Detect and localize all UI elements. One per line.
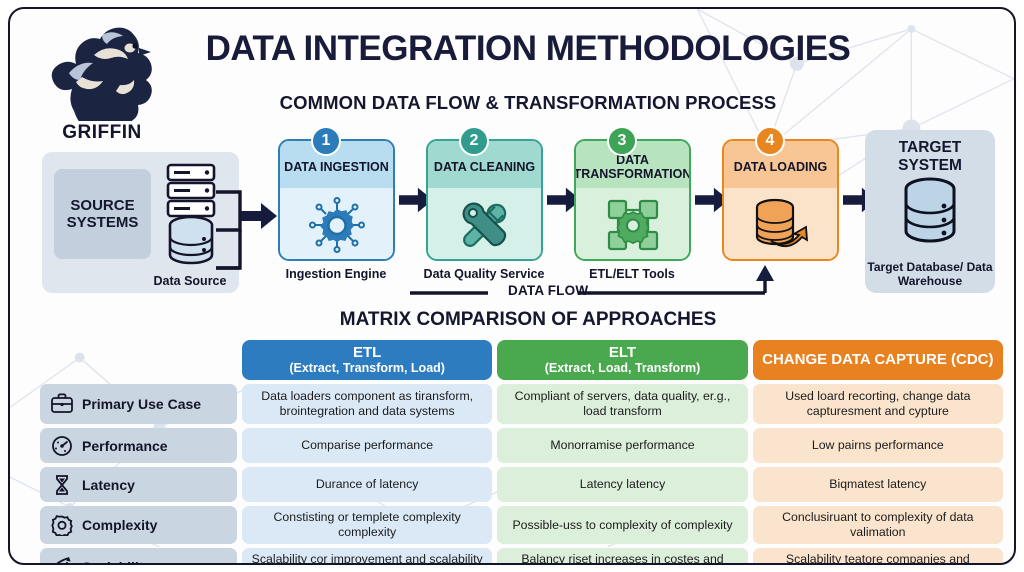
cell-elt-latency: Latency latency xyxy=(497,467,747,502)
column-header-elt-expansion: (Extract, Load, Transform) xyxy=(501,361,743,375)
cell-elt-scalability: Balancy riset increases in costes and av… xyxy=(497,548,747,565)
cell-etl-primary-use-case: Data loaders component as tiransform, br… xyxy=(242,384,492,424)
source-systems-title: SOURCE SYSTEMS xyxy=(54,169,151,259)
row-label-latency: Latency xyxy=(40,467,237,502)
column-header-etl-name: ETL xyxy=(246,344,488,361)
data-flow-return-path xyxy=(410,265,810,310)
process-step-4[interactable]: DATA LOADING xyxy=(722,139,839,261)
process-step-1-caption: Ingestion Engine xyxy=(261,267,411,282)
row-label-scalability: Scalability xyxy=(40,548,237,565)
brand-logo-block: GRIFFIN xyxy=(32,15,172,144)
matrix-section-title: MATRIX COMPARISON OF APPROACHES xyxy=(178,309,878,331)
process-step-3-badge: 3 xyxy=(607,126,637,156)
page-subtitle: COMMON DATA FLOW & TRANSFORMATION PROCES… xyxy=(178,92,878,114)
briefcase-icon xyxy=(50,393,74,415)
cell-elt-complexity: Possible-uss to complexity of complexity xyxy=(497,506,747,544)
cell-elt-primary-use-case: Compliant of servers, data quality, er.g… xyxy=(497,384,747,424)
process-step-2-badge: 2 xyxy=(459,126,489,156)
column-header-elt[interactable]: ELT (Extract, Load, Transform) xyxy=(497,340,747,380)
table-row: Complexity Constisting or templete compl… xyxy=(40,506,1003,544)
source-systems-box: SOURCE SYSTEMS DATA xyxy=(42,152,239,293)
cell-cdc-complexity: Conclusiruant to complexity of data vali… xyxy=(753,506,1003,544)
table-row: Performance Comparise performance Monorr… xyxy=(40,428,1003,463)
cell-etl-performance: Comparise performance xyxy=(242,428,492,463)
infographic-root: GRIFFIN DATA INTEGRATION METHODOLOGIES C… xyxy=(0,0,1024,572)
table-corner-spacer xyxy=(40,340,237,380)
row-label-complexity: Complexity xyxy=(40,506,237,544)
bar-chart-arrow-icon xyxy=(50,556,74,565)
comparison-matrix-table: ETL (Extract, Transform, Load) ELT (Extr… xyxy=(40,340,1003,565)
row-label-primary-use-case: Primary Use Case xyxy=(40,384,237,424)
row-label-text: Complexity xyxy=(82,517,157,533)
cell-etl-scalability: Scalability cor improvement and scalabil… xyxy=(242,548,492,565)
table-header-row: ETL (Extract, Transform, Load) ELT (Extr… xyxy=(40,340,1003,380)
process-step-3[interactable]: DATA TRANSFORMATION xyxy=(574,139,691,261)
database-cylinder-icon xyxy=(164,214,218,272)
row-label-text: Performance xyxy=(82,438,168,454)
column-header-cdc-name: CHANGE DATA CAPTURE (CDC) xyxy=(762,351,993,368)
cell-cdc-performance: Low pairns performance xyxy=(753,428,1003,463)
target-system-title: TARGET SYSTEM xyxy=(865,139,995,174)
process-step-4-badge: 4 xyxy=(755,126,785,156)
process-step-1-badge: 1 xyxy=(311,126,341,156)
poster-frame: GRIFFIN DATA INTEGRATION METHODOLOGIES C… xyxy=(8,7,1016,565)
server-stack-icon xyxy=(164,162,218,222)
cell-cdc-scalability: Scalability teatore companies and restim… xyxy=(753,548,1003,565)
gauge-icon xyxy=(50,435,74,457)
cell-elt-performance: Monorramise performance xyxy=(497,428,747,463)
data-flow-label: DATA FLOW xyxy=(508,283,588,298)
target-system-box: TARGET SYSTEM Target Database/ Data Ware… xyxy=(865,130,995,293)
database-cylinder-icon xyxy=(898,176,962,252)
page-title: DATA INTEGRATION METHODOLOGIES xyxy=(178,29,878,69)
table-row: Latency Durance of latency Latency laten… xyxy=(40,467,1003,502)
gear-icon xyxy=(50,514,74,536)
arrow-right-icon xyxy=(241,203,277,229)
process-step-3-icon-area xyxy=(576,188,689,261)
source-database-label: Data Source xyxy=(140,274,240,288)
column-header-etl[interactable]: ETL (Extract, Transform, Load) xyxy=(242,340,492,380)
target-system-caption: Target Database/ Data Warehouse xyxy=(865,260,995,289)
data-flow-diagram: SOURCE SYSTEMS DATA xyxy=(10,127,1016,302)
cell-etl-latency: Durance of latency xyxy=(242,467,492,502)
hourglass-icon xyxy=(50,474,74,496)
griffin-logo-icon xyxy=(36,15,168,121)
database-arrow-icon xyxy=(749,197,813,253)
wrench-screwdriver-icon xyxy=(454,196,516,254)
table-row: Primary Use Case Data loaders component … xyxy=(40,384,1003,424)
row-label-text: Primary Use Case xyxy=(82,396,201,412)
process-step-4-icon-area xyxy=(724,188,837,261)
nodes-gear-icon xyxy=(603,196,663,254)
process-step-1[interactable]: DATA INGESTION xyxy=(278,139,395,261)
process-step-1-icon-area xyxy=(280,188,393,261)
row-label-text: Scalability xyxy=(82,559,151,565)
column-header-elt-name: ELT xyxy=(501,344,743,361)
process-step-2[interactable]: DATA CLEANING xyxy=(426,139,543,261)
cell-cdc-primary-use-case: Used loard recorting, change data captur… xyxy=(753,384,1003,424)
row-label-text: Latency xyxy=(82,477,135,493)
process-step-2-icon-area xyxy=(428,188,541,261)
cell-etl-complexity: Constisting or templete complexity compl… xyxy=(242,506,492,544)
column-header-cdc[interactable]: CHANGE DATA CAPTURE (CDC) xyxy=(753,340,1003,380)
column-header-etl-expansion: (Extract, Transform, Load) xyxy=(246,361,488,375)
table-row: Scalability Scalability cor improvement … xyxy=(40,548,1003,565)
cell-cdc-latency: Biqmatest latency xyxy=(753,467,1003,502)
gear-network-icon xyxy=(308,196,366,254)
row-label-performance: Performance xyxy=(40,428,237,463)
